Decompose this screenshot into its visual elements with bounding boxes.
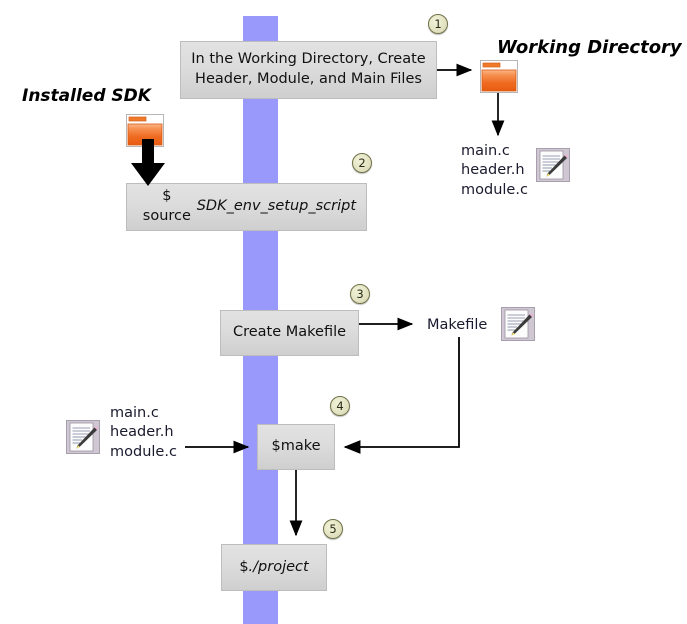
label-makefile: Makefile — [427, 316, 487, 335]
box-source-env-script: SDK_env_setup_script — [197, 197, 356, 217]
connector-makefile-to-make — [345, 337, 459, 447]
box-run-project[interactable]: $ ./project — [221, 544, 327, 591]
heading-working-directory: Working Directory — [497, 37, 682, 58]
step-badge-3: 3 — [350, 284, 370, 304]
workdir-folder-window-icon — [480, 60, 518, 93]
heading-installed-sdk: Installed SDK — [22, 86, 151, 106]
box-source-env-command: $ source — [137, 187, 197, 226]
step-badge-2: 2 — [352, 153, 372, 173]
sources-notepad-pencil-icon — [66, 420, 100, 454]
box-create-files[interactable]: In the Working Directory, Create Header,… — [180, 41, 437, 99]
workdir-notepad-pencil-icon — [536, 148, 570, 182]
diagram-canvas: Installed SDK Working Directory — [0, 0, 687, 624]
box-run-project-prompt: $ — [239, 558, 248, 578]
step-badge-4: 4 — [330, 396, 350, 416]
makefile-notepad-pencil-icon — [501, 307, 535, 341]
sdk-down-arrow-icon — [128, 139, 168, 191]
box-create-makefile[interactable]: Create Makefile — [220, 310, 359, 356]
label-workdir-files: main.c header.h module.c — [461, 142, 528, 200]
box-make[interactable]: $make — [257, 424, 335, 470]
step-badge-5: 5 — [323, 519, 343, 539]
box-run-project-command: ./project — [249, 558, 309, 578]
label-source-files: main.c header.h module.c — [110, 404, 177, 462]
step-badge-1: 1 — [428, 14, 448, 34]
